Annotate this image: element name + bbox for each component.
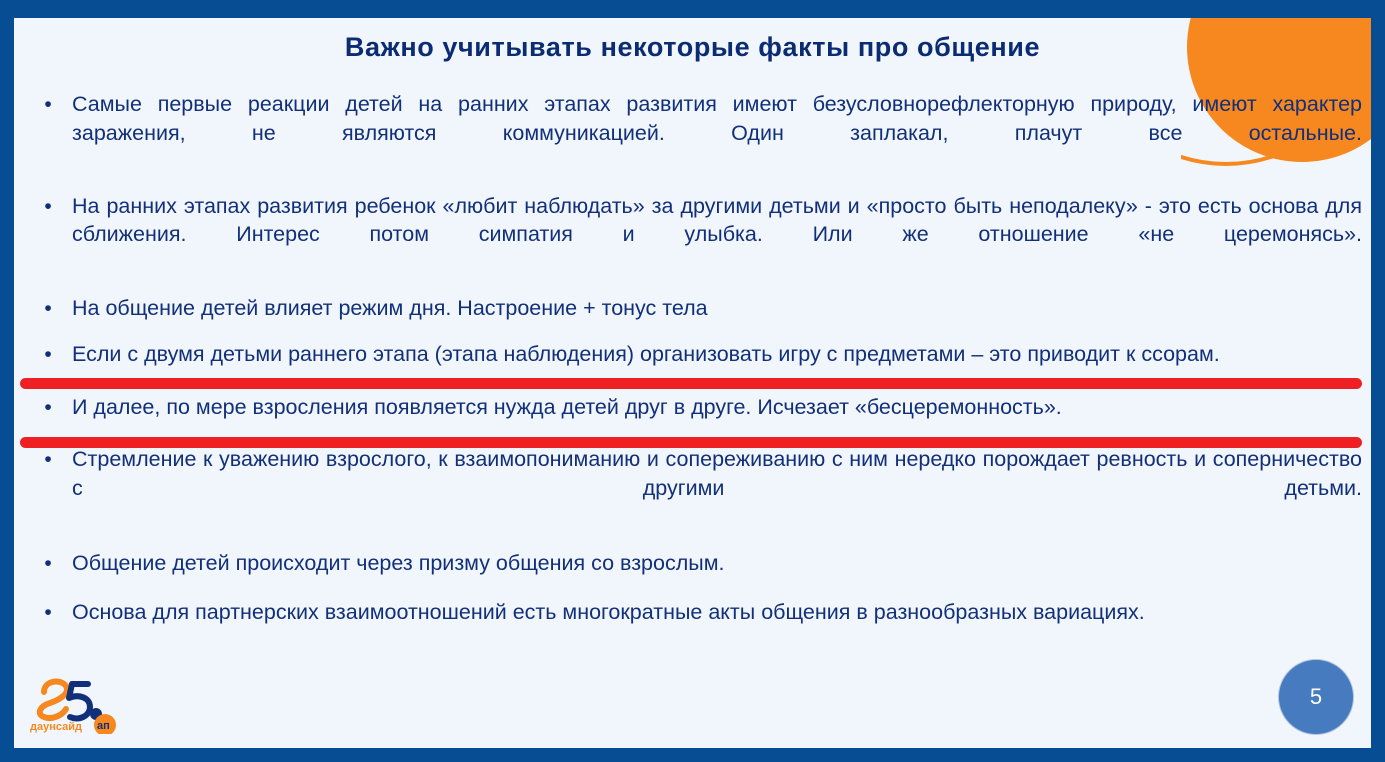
red-highlight-bar-bottom	[20, 437, 1362, 448]
bullet-marker-icon: •	[24, 445, 72, 474]
svg-text:ап: ап	[97, 720, 110, 732]
frame-right-border	[1371, 0, 1385, 762]
bullet-list: • Самые первые реакции детей на ранних э…	[24, 90, 1364, 642]
slide: Важно учитывать некоторые факты про обще…	[0, 0, 1385, 762]
page-number-badge: 5	[1279, 660, 1353, 734]
bullet-marker-icon: •	[24, 192, 72, 221]
list-item-text: Общение детей происходит через призму об…	[72, 549, 1364, 578]
list-item: • Стремление к уважению взрослого, к вза…	[24, 445, 1364, 531]
list-item: • Основа для партнерских взаимоотношений…	[24, 598, 1364, 627]
list-item-text: Самые первые реакции детей на ранних эта…	[72, 90, 1364, 176]
list-item: • Общение детей происходит через призму …	[24, 549, 1364, 578]
page-number-label: 5	[1310, 684, 1322, 710]
list-item-highlighted: • И далее, по мере взросления появляется…	[24, 393, 1364, 422]
page-title: Важно учитывать некоторые факты про обще…	[14, 32, 1371, 63]
list-item: • Самые первые реакции детей на ранних э…	[24, 90, 1364, 176]
slide-canvas: Важно учитывать некоторые факты про обще…	[14, 18, 1371, 748]
bullet-marker-icon: •	[24, 90, 72, 119]
bullet-marker-icon: •	[24, 294, 72, 323]
frame-top-border	[0, 0, 1385, 18]
list-item-text: И далее, по мере взросления появляется н…	[72, 393, 1364, 422]
bullet-marker-icon: •	[24, 549, 72, 578]
list-item: • На ранних этапах развития ребенок «люб…	[24, 192, 1364, 278]
list-item-text: Основа для партнерских взаимоотношений е…	[72, 598, 1364, 627]
downside-up-logo: даунсайд ап	[26, 670, 130, 734]
list-item-text: На ранних этапах развития ребенок «любит…	[72, 192, 1364, 278]
list-item-text: Стремление к уважению взрослого, к взаим…	[72, 445, 1364, 531]
svg-text:даунсайд: даунсайд	[30, 721, 82, 733]
bullet-marker-icon: •	[24, 598, 72, 627]
list-item-text: На общение детей влияет режим дня. Настр…	[72, 294, 1364, 323]
bullet-marker-icon: •	[24, 393, 72, 422]
red-highlight-bar-top	[20, 378, 1362, 389]
list-item: • Если с двумя детьми раннего этапа (эта…	[24, 340, 1364, 369]
list-item-text: Если с двумя детьми раннего этапа (этапа…	[72, 340, 1364, 369]
frame-left-border	[0, 0, 14, 762]
list-item: • На общение детей влияет режим дня. Нас…	[24, 294, 1364, 323]
bullet-marker-icon: •	[24, 340, 72, 369]
frame-bottom-border	[0, 748, 1385, 762]
